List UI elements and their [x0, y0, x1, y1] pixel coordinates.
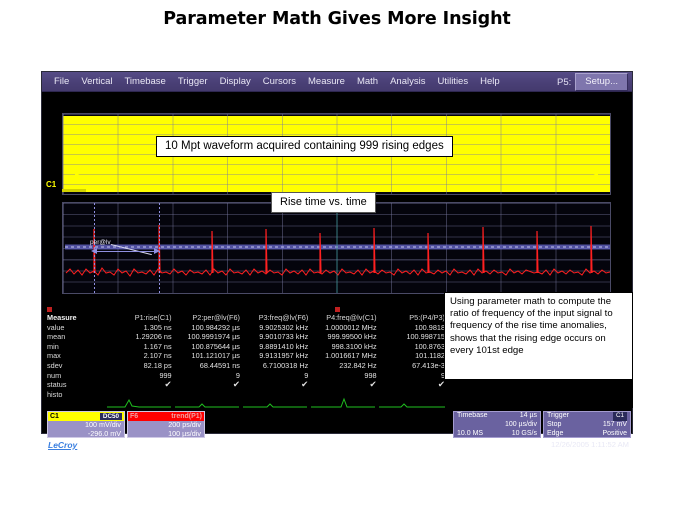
timebase-scale: 100 µs/div [505, 421, 537, 430]
row-label-status: status [43, 380, 105, 390]
left-edge-marker-icon [75, 172, 81, 180]
status-panels: Timebase 14 µs 100 µs/div 10.0 MS 10 GS/… [453, 411, 631, 438]
cell-mean-p2: 100.9991974 µs [174, 332, 242, 342]
menu-item-cursors[interactable]: Cursors [257, 75, 302, 89]
cell-min-p1: 1.167 ns [105, 342, 173, 352]
status-check-p4: ✔ [310, 380, 378, 390]
cell-min-p5: 100.8763 [379, 342, 447, 352]
menu-item-help[interactable]: Help [474, 75, 506, 89]
cell-num-p5: 9 [379, 371, 447, 381]
menu-item-math[interactable]: Math [351, 75, 384, 89]
trigger-row-2: Stop 157 mV [544, 421, 630, 430]
cell-value-p5: 100.9818 [379, 323, 447, 333]
cell-max-p1: 2.107 ns [105, 351, 173, 361]
table-row: num 999 9 9 998 9 [43, 371, 447, 381]
row-label-min: min [43, 342, 105, 352]
timebase-memory: 10.0 MS [457, 430, 483, 439]
setup-button[interactable]: Setup... [575, 73, 628, 91]
trigger-row-3: Edge Positive [544, 430, 630, 439]
trigger-label: Trigger [547, 412, 569, 421]
timebase-sample-rate: 10 GS/s [512, 430, 537, 439]
cursor-span-arrow [96, 251, 158, 252]
cell-mean-p3: 9.9010733 kHz [242, 332, 310, 342]
trigger-level: 157 mV [603, 421, 627, 430]
timebase-row-1: Timebase 14 µs [454, 412, 540, 421]
right-edge-marker-icon [592, 172, 598, 180]
status-check-p3: ✔ [242, 380, 310, 390]
trigger-status-panel[interactable]: Trigger C1 Stop 157 mV Edge Positive [543, 411, 631, 438]
cell-mean-p5: 100.998715 [379, 332, 447, 342]
c1-coupling-badge[interactable]: DC50 [100, 413, 122, 420]
trigger-state[interactable]: Stop [547, 421, 561, 430]
timebase-delay: 14 µs [520, 412, 537, 421]
cell-sdev-p5: 67.413e-3 [379, 361, 447, 371]
cell-num-p1: 999 [105, 371, 173, 381]
timebase-status-panel[interactable]: Timebase 14 µs 100 µs/div 10.0 MS 10 GS/… [453, 411, 541, 438]
cell-value-p4: 1.0000012 MHz [310, 323, 378, 333]
cell-sdev-p1: 82.18 ps [105, 361, 173, 371]
trigger-row-1: Trigger C1 [544, 412, 630, 421]
table-header-row: Measure P1:rise(C1) P2:per@lv(F6) P3:fre… [43, 313, 447, 323]
row-label-num: num [43, 371, 105, 381]
page-title: Parameter Math Gives More Insight [0, 9, 674, 29]
row-label-histo: histo [43, 390, 105, 400]
menu-item-timebase[interactable]: Timebase [118, 75, 171, 89]
trend-waveform-grid[interactable]: per@lv [62, 202, 611, 294]
status-check-p1: ✔ [105, 380, 173, 390]
timebase-row-3: 10.0 MS 10 GS/s [454, 430, 540, 439]
timebase-row-2: 100 µs/div [454, 421, 540, 430]
menu-item-display[interactable]: Display [214, 75, 257, 89]
menu-item-trigger[interactable]: Trigger [172, 75, 214, 89]
panel-marker-icon-left [47, 307, 52, 312]
row-label-value: value [43, 323, 105, 333]
row-label-mean: mean [43, 332, 105, 342]
cell-sdev-p2: 68.44591 ns [174, 361, 242, 371]
cell-max-p5: 101.1182 [379, 351, 447, 361]
column-header-p4[interactable]: P4:freq@lv(C1) [310, 313, 378, 323]
function-descriptor-f6[interactable]: F6 trend(P1) 200 ps/div 100 µs/div [127, 411, 205, 438]
status-check-p2: ✔ [174, 380, 242, 390]
measure-title: Measure [43, 313, 105, 323]
column-header-p3[interactable]: P3:freq@lv(F6) [242, 313, 310, 323]
cell-num-p2: 9 [174, 371, 242, 381]
trigger-source-badge[interactable]: C1 [613, 412, 627, 421]
measure-table: Measure P1:rise(C1) P2:per@lv(F6) P3:fre… [43, 313, 447, 399]
cell-max-p4: 1.0016617 MHz [310, 351, 378, 361]
callout-rise-time-vs-time: Rise time vs. time [271, 192, 376, 213]
trigger-slope: Positive [602, 430, 627, 439]
row-label-sdev: sdev [43, 361, 105, 371]
param-label: P5: [557, 77, 571, 88]
cell-sdev-p4: 232.842 Hz [310, 361, 378, 371]
cell-value-p2: 100.984292 µs [174, 323, 242, 333]
column-header-p1[interactable]: P1:rise(C1) [105, 313, 173, 323]
bottom-status-row: C1 DC50 100 mV/div -296.0 mV F6 trend(P1… [43, 410, 633, 454]
channel-descriptor-c1[interactable]: C1 DC50 100 mV/div -296.0 mV [47, 411, 125, 438]
c1-offset: -296.0 mV [48, 430, 124, 439]
menu-bar: File Vertical Timebase Trigger Display C… [42, 72, 632, 92]
table-row: value 1.305 ns 100.984292 µs 9.9025302 k… [43, 323, 447, 333]
table-row: min 1.167 ns 100.875644 µs 9.8891410 kHz… [43, 342, 447, 352]
status-check-p5: ✔ [379, 380, 447, 390]
column-header-p2[interactable]: P2:per@lv(F6) [174, 313, 242, 323]
table-row: status ✔ ✔ ✔ ✔ ✔ [43, 380, 447, 390]
cell-min-p4: 998.3100 kHz [310, 342, 378, 352]
menu-item-vertical[interactable]: Vertical [75, 75, 118, 89]
f6-name: F6 [130, 413, 138, 420]
c1-name: C1 [50, 413, 59, 420]
c1-channel-tag[interactable]: C1 [46, 180, 56, 189]
lecroy-logo: LeCroy [48, 440, 77, 450]
cell-num-p3: 9 [242, 371, 310, 381]
menu-right-group: P5: Setup... [557, 72, 628, 92]
callout-waveform-acquired: 10 Mpt waveform acquired containing 999 … [156, 136, 453, 157]
f6-timebase: 100 µs/div [128, 430, 204, 439]
cell-value-p3: 9.9025302 kHz [242, 323, 310, 333]
menu-item-measure[interactable]: Measure [302, 75, 351, 89]
cell-num-p4: 998 [310, 371, 378, 381]
histogram-strip [105, 397, 447, 408]
cell-sdev-p3: 6.7100318 Hz [242, 361, 310, 371]
arrow-head-left-icon [91, 248, 97, 254]
menu-item-analysis[interactable]: Analysis [384, 75, 431, 89]
panel-marker-icon-mid [335, 307, 340, 312]
cell-max-p2: 101.121017 µs [174, 351, 242, 361]
trend-trace-svg [63, 203, 611, 294]
explanation-note: Using parameter math to compute the rati… [444, 292, 633, 380]
column-header-p5[interactable]: P5:(P4/P3) [379, 313, 447, 323]
table-row: max 2.107 ns 101.121017 µs 9.9131957 kHz… [43, 351, 447, 361]
cell-mean-p4: 999.99500 kHz [310, 332, 378, 342]
cell-value-p1: 1.305 ns [105, 323, 173, 333]
timebase-label: Timebase [457, 412, 487, 421]
table-row: mean 1.29206 ns 100.9991974 µs 9.9010733… [43, 332, 447, 342]
table-row: sdev 82.18 ps 68.44591 ns 6.7100318 Hz 2… [43, 361, 447, 371]
f6-source: trend(P1) [171, 413, 202, 420]
cell-max-p3: 9.9131957 kHz [242, 351, 310, 361]
menu-item-utilities[interactable]: Utilities [431, 75, 474, 89]
cell-min-p2: 100.875644 µs [174, 342, 242, 352]
slide-root: Parameter Math Gives More Insight File V… [0, 0, 674, 506]
row-label-max: max [43, 351, 105, 361]
datetime-display: 12/26/2005 1:11:52 AM [551, 440, 629, 449]
trigger-type: Edge [547, 430, 563, 439]
arrow-head-right-icon [154, 248, 160, 254]
c1-offset-indicator [62, 189, 86, 192]
menu-item-file[interactable]: File [48, 75, 75, 89]
cursor-measure-label: per@lv [90, 239, 111, 246]
cell-min-p3: 9.8891410 kHz [242, 342, 310, 352]
cell-mean-p1: 1.29206 ns [105, 332, 173, 342]
